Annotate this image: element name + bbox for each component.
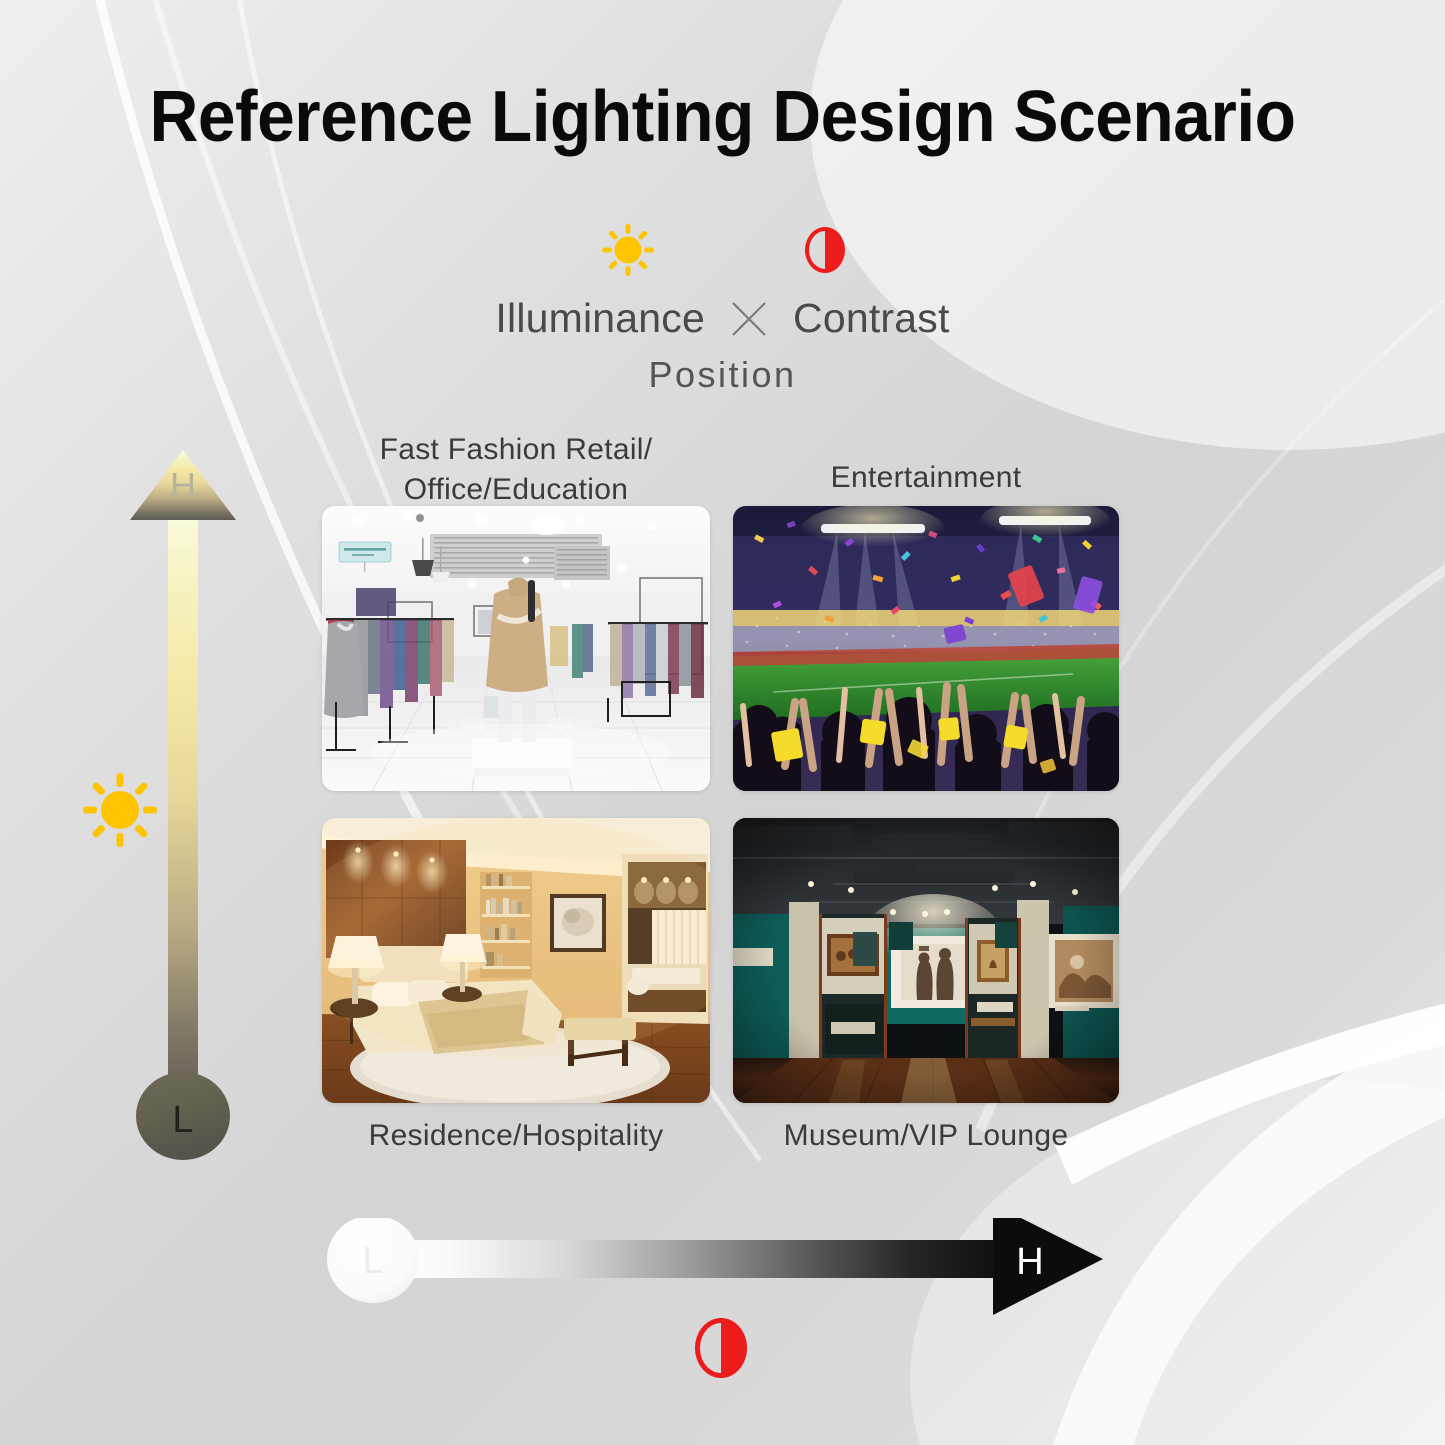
- contrast-label: Contrast: [793, 295, 950, 342]
- legend-icon-row: [0, 215, 1445, 285]
- multiply-icon: [727, 297, 771, 341]
- legend-block: Illuminance Contrast Position: [0, 215, 1445, 396]
- quadrant-image-entertainment: [733, 506, 1119, 791]
- contrast-axis-icon: [695, 1318, 747, 1378]
- quadrant-image-residence: [322, 818, 710, 1103]
- contrast-axis-arrow: L H: [325, 1218, 1105, 1323]
- quadrant-image-retail: [322, 506, 710, 791]
- quadrant-label-retail: Fast Fashion Retail/ Office/Education: [322, 430, 710, 509]
- quadrant-label-residence: Residence/Hospitality: [322, 1116, 710, 1156]
- quadrant-label-museum: Museum/VIP Lounge: [733, 1116, 1119, 1156]
- sun-icon: [601, 223, 655, 277]
- illuminance-label: Illuminance: [495, 295, 705, 342]
- axis-vertical-low-label: L: [172, 1099, 193, 1141]
- axis-horizontal-high-label: H: [1016, 1241, 1043, 1283]
- illuminance-axis-sun-icon: [82, 772, 158, 848]
- legend-title-row: Illuminance Contrast: [0, 295, 1445, 342]
- axis-vertical-high-label: H: [170, 465, 196, 506]
- axis-horizontal-low-label: L: [362, 1240, 383, 1282]
- position-label: Position: [0, 354, 1445, 396]
- contrast-icon: [805, 227, 845, 273]
- quadrant-label-entertainment: Entertainment: [733, 458, 1119, 498]
- quadrant-image-museum: [733, 818, 1119, 1103]
- page-title: Reference Lighting Design Scenario: [43, 76, 1401, 158]
